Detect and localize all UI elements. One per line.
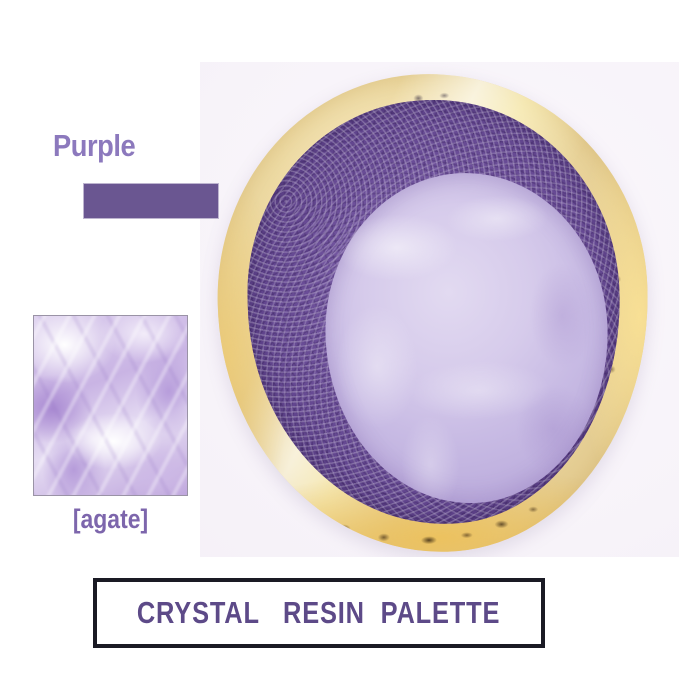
- agate-texture-sample: [33, 315, 188, 496]
- marble-swirl-texture-icon: [321, 169, 612, 506]
- color-swatch: [83, 183, 219, 219]
- druzy-crystal-band: [242, 95, 625, 529]
- agate-sample-label: [agate]: [45, 504, 177, 535]
- product-image-canvas: Purple [agate] CRYSTAL RESIN PALETTE: [0, 0, 679, 679]
- palette-product-photo: [200, 62, 679, 557]
- product-title-banner: CRYSTAL RESIN PALETTE: [93, 578, 545, 648]
- agate-resin-palette-slice: [212, 68, 654, 557]
- product-title-text: CRYSTAL RESIN PALETTE: [137, 595, 500, 631]
- color-name-heading: Purple: [53, 128, 135, 164]
- agate-veins-texture-icon: [33, 315, 188, 496]
- palette-mixing-well: [321, 169, 612, 506]
